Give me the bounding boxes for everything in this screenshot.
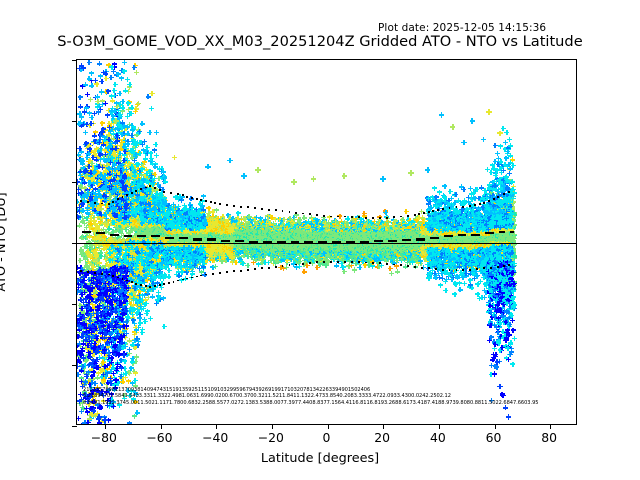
plot-area: 2103357898113709381409474315191359251151… bbox=[77, 60, 576, 424]
chart-title: S-O3M_GOME_VOD_XX_M03_20251204Z Gridded … bbox=[0, 33, 640, 50]
x-axis-label: Latitude [degrees] bbox=[0, 451, 640, 466]
y-axis-label: ATO - NTO [DU] bbox=[0, 192, 9, 291]
plot-axes-frame: 2103357898113709381409474315191359251151… bbox=[76, 59, 577, 425]
figure-canvas: Plot date: 2025-12-05 14:15:36 S-O3M_GOM… bbox=[0, 0, 640, 480]
